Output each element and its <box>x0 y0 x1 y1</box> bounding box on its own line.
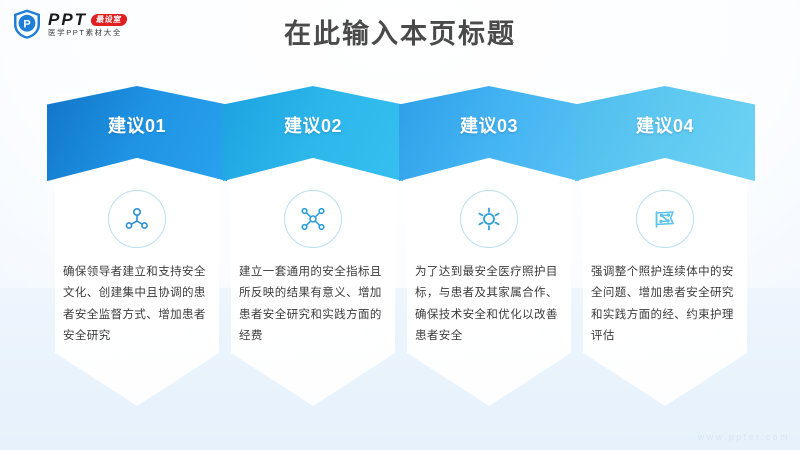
card-header-label: 建议03 <box>399 112 579 138</box>
card-header-label: 建议01 <box>47 112 227 138</box>
card-header-label: 建议02 <box>223 112 403 138</box>
card-description: 强调整个照护连续体中的安全问题、增加患者安全研究和实践方面的经、约束护理评估 <box>591 262 741 347</box>
card-header-label: 建议04 <box>575 112 755 138</box>
card-item[interactable]: 建议01 确保领导者建立和支持安全文化、创建集中且协调的患者安全监督方式、增加患… <box>47 86 227 406</box>
page-title: 在此输入本页标题 <box>0 18 800 50</box>
slide-canvas: P PPT 最设室 医学PPT素材大全 在此输入本页标题 建议01 <box>0 0 800 450</box>
card-description: 建立一套通用的安全指标且所反映的结果有意义、增加患者安全研究和实践方面的经费 <box>239 262 389 347</box>
share-nodes-icon <box>108 190 166 248</box>
site-watermark: www.ppter.com <box>698 432 790 442</box>
card-description: 为了达到最安全医疗照护目标，与患者及其家属合作、确保技术安全和优化以改善患者安全 <box>415 262 565 347</box>
card-item[interactable]: 建议03 为了达到最安全医疗照护目标，与患者及其家属合作、确保技术安全和优化以改… <box>399 86 579 406</box>
card-description: 确保领导者建立和支持安全文化、创建集中且协调的患者安全监督方式、增加患者安全研究 <box>63 262 213 347</box>
flag-network-icon <box>636 190 694 248</box>
card-row: 建议01 确保领导者建立和支持安全文化、创建集中且协调的患者安全监督方式、增加患… <box>47 86 753 406</box>
network-hub-icon <box>284 190 342 248</box>
sun-brightness-icon <box>460 190 518 248</box>
card-item[interactable]: 建议02 建立一套通用的安全指标且所反映的结果有意义、增加患者安全研究和实践方面… <box>223 86 403 406</box>
card-item[interactable]: 建议04 强调整个照护连续体中的安全问题、增加患者安全研究和实践方面的经、约束护… <box>575 86 755 406</box>
